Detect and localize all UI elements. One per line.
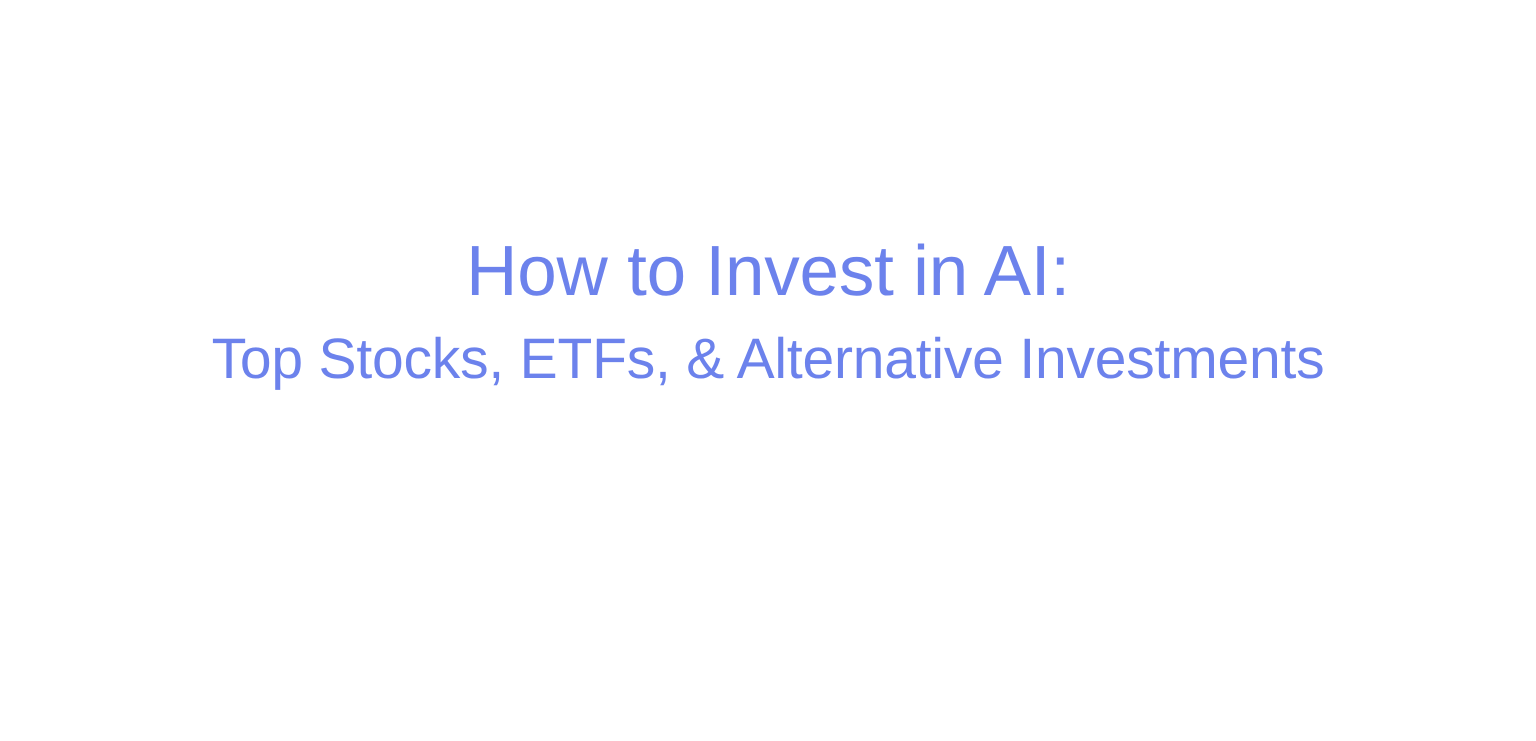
title-line-secondary: Top Stocks, ETFs, & Alternative Investme… [212,316,1325,402]
title-slide: How to Invest in AI: Top Stocks, ETFs, &… [0,0,1536,741]
title-block: How to Invest in AI: Top Stocks, ETFs, &… [0,228,1536,402]
title-line-primary: How to Invest in AI: [466,228,1070,316]
